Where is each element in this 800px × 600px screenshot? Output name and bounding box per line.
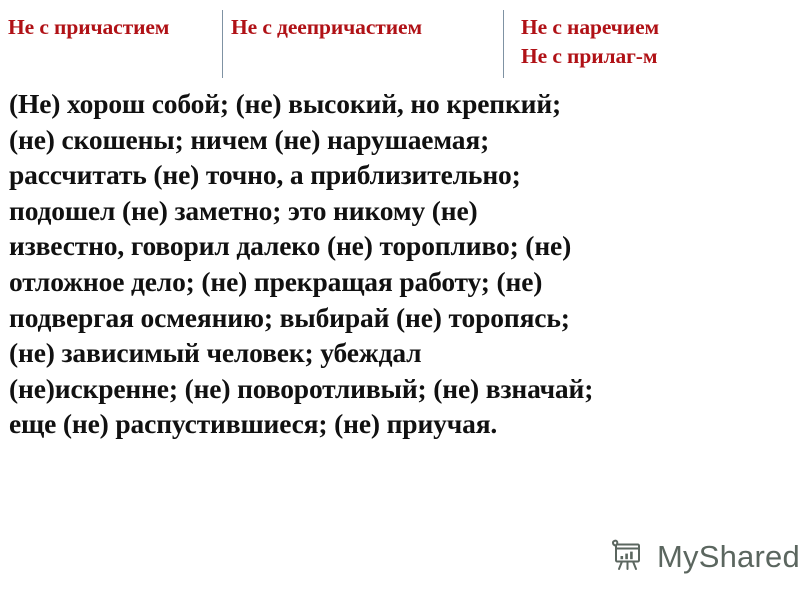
- exercise-text-block: (Не) хорош собой; (не) высокий, но крепк…: [9, 86, 799, 442]
- header-column-narechie-line-1: Не с наречием: [521, 13, 659, 42]
- exercise-text-line: (Не) хорош собой; (не) высокий, но крепк…: [9, 86, 799, 122]
- header-band: Не с причастием Не с деепричастием Не с …: [0, 0, 800, 86]
- slide-canvas: Не с причастием Не с деепричастием Не с …: [0, 0, 800, 600]
- myshared-watermark: MyShared: [608, 536, 800, 576]
- header-divider-right: [503, 10, 504, 78]
- exercise-text-line: (не)искренне; (не) поворотливый; (не) вз…: [9, 371, 799, 407]
- exercise-text-line: еще (не) распустившиеся; (не) приучая.: [9, 406, 799, 442]
- header-column-deeprichastie: Не с деепричастием: [231, 13, 422, 42]
- header-column-prichastie-line-1: Не с причастием: [8, 13, 169, 42]
- header-column-narechie-line-2: Не с прилаг-м: [521, 42, 659, 71]
- exercise-text-line: отложное дело; (не) прекращая работу; (н…: [9, 264, 799, 300]
- header-column-prichastie: Не с причастием: [8, 13, 169, 42]
- presentation-chart-icon: [608, 536, 648, 576]
- exercise-text-line: известно, говорил далеко (не) торопливо;…: [9, 228, 799, 264]
- header-divider-left: [222, 10, 223, 78]
- myshared-watermark-label: MyShared: [657, 541, 800, 572]
- exercise-text-line: (не) зависимый человек; убеждал: [9, 335, 799, 371]
- exercise-text-line: подошел (не) заметно; это никому (не): [9, 193, 799, 229]
- header-column-deeprichastie-line-1: Не с деепричастием: [231, 13, 422, 42]
- header-column-narechie: Не с наречием Не с прилаг-м: [521, 13, 659, 71]
- exercise-text-line: подвергая осмеянию; выбирай (не) торопяс…: [9, 300, 799, 336]
- exercise-text-line: рассчитать (не) точно, а приблизительно;: [9, 157, 799, 193]
- exercise-text-line: (не) скошены; ничем (не) нарушаемая;: [9, 122, 799, 158]
